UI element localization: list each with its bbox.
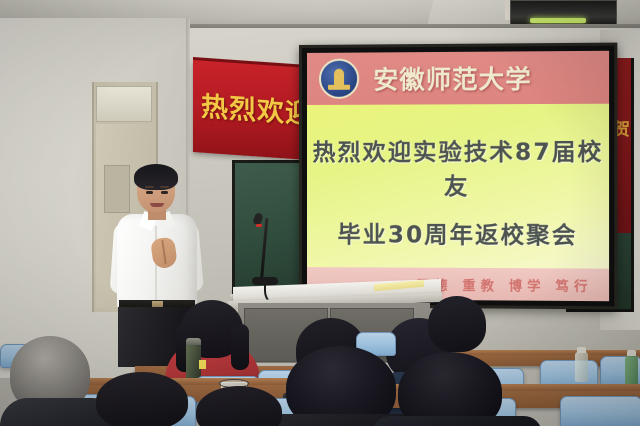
water-bottle-cap [577,347,586,353]
university-name: 安徽师范大学 [373,59,532,96]
speaker-mouth [150,203,164,207]
slide-title-line1: 热烈欢迎实验技术87届校友 [307,132,609,201]
thermos-cap [186,338,201,345]
audience-hair-strand-right [231,324,249,370]
projector-led-icon [530,18,586,23]
university-emblem-icon [319,59,359,99]
audience-body-front-right [372,416,542,426]
slide-body: 热烈欢迎实验技术87届校友 毕业30周年返校聚会 物理与电子信息学院 二〇一七年… [307,104,609,269]
welcome-banner-text: 热烈欢迎 [201,85,308,132]
audience-head-front-right [398,352,502,426]
speaker-brow-right [160,186,169,188]
microphone-indicator [256,224,262,227]
green-tea-bottle-cap [627,350,636,356]
water-bottle-right [575,352,588,382]
audience-head-right-b [428,296,486,352]
thermos-label [199,360,206,369]
slide-header-band: 安徽师范大学 [307,51,609,105]
chair-front-right-2[interactable] [560,396,640,426]
door-panel [104,165,130,213]
slide-surface: 安徽师范大学 热烈欢迎实验技术87届校友 毕业30周年返校聚会 物理与电子信息学… [307,51,609,301]
speaker-brow-left [145,186,154,188]
speaker-hair [134,164,178,190]
lecture-hall-photo: 热烈欢迎 贺 安徽师范大学 热烈欢迎实验技术87届校友 毕业30周年返校聚会 物… [0,0,640,426]
door-transom-window [96,86,152,122]
speaker-eye-left [146,191,153,194]
welcome-banner-left: 热烈欢迎 [193,60,308,160]
projection-screen: 安徽师范大学 热烈欢迎实验技术87届校友 毕业30周年返校聚会 物理与电子信息学… [299,43,617,310]
slide-title-line2: 毕业30周年返校聚会 [307,215,609,250]
speaker-eye-right [161,191,168,194]
audience-head-front-dark-left [96,372,188,426]
university-motto: 厚德 重教 博学 笃行 [416,274,592,294]
